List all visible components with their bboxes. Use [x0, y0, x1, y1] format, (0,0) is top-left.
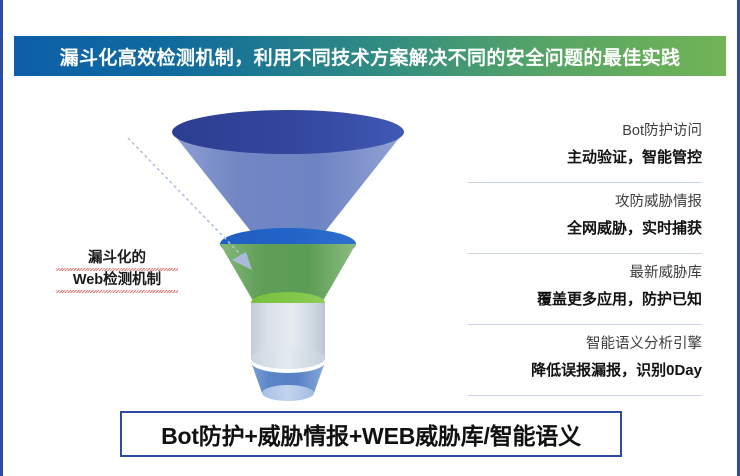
feature-desc: 全网威胁，实时捕获 [450, 215, 702, 242]
feature-divider [468, 182, 702, 183]
feature-block-threat-intelligence: 攻防威胁情报 全网威胁，实时捕获 [450, 189, 702, 247]
arrow-head [232, 252, 252, 270]
header-bar: 漏斗化高效检测机制，利用不同技术方案解决不同的安全问题的最佳实践 [14, 36, 726, 76]
feature-desc: 覆盖更多应用，防护已知 [450, 286, 702, 313]
bottom-banner: Bot防护+威胁情报+WEB威胁库/智能语义 [120, 411, 622, 457]
left-label-line-2: Web检测机制 [52, 270, 182, 292]
feature-title: 智能语义分析引擎 [450, 331, 702, 357]
feature-block-threat-database: 最新威胁库 覆盖更多应用，防护已知 [450, 260, 702, 318]
funnel-left-label: 漏斗化的 Web检测机制 [52, 248, 182, 292]
funnel-cylinder-bottom-ellipse [251, 347, 325, 369]
slide-canvas: 漏斗化高效检测机制，利用不同技术方案解决不同的安全问题的最佳实践 [0, 0, 740, 476]
arrow-shaft [128, 138, 244, 258]
feature-divider [468, 253, 702, 254]
feature-divider [468, 324, 702, 325]
bottom-banner-text: Bot防护+威胁情报+WEB威胁库/智能语义 [161, 417, 581, 451]
feature-block-bot-protection: Bot防护访问 主动验证，智能管控 [450, 118, 702, 176]
feature-title: Bot防护访问 [450, 118, 702, 144]
feature-desc: 降低误报漏报，识别0Day [450, 357, 702, 384]
left-label-line-1: 漏斗化的 [52, 248, 182, 270]
feature-divider [468, 395, 702, 396]
feature-block-semantic-engine: 智能语义分析引擎 降低误报漏报，识别0Day [450, 331, 702, 389]
funnel-base-bottom-ellipse [262, 385, 314, 401]
page-title: 漏斗化高效检测机制，利用不同技术方案解决不同的安全问题的最佳实践 [60, 43, 681, 70]
feature-desc: 主动验证，智能管控 [450, 144, 702, 171]
feature-title: 最新威胁库 [450, 260, 702, 286]
feature-title: 攻防威胁情报 [450, 189, 702, 215]
feature-list: Bot防护访问 主动验证，智能管控 攻防威胁情报 全网威胁，实时捕获 最新威胁库… [450, 118, 702, 402]
